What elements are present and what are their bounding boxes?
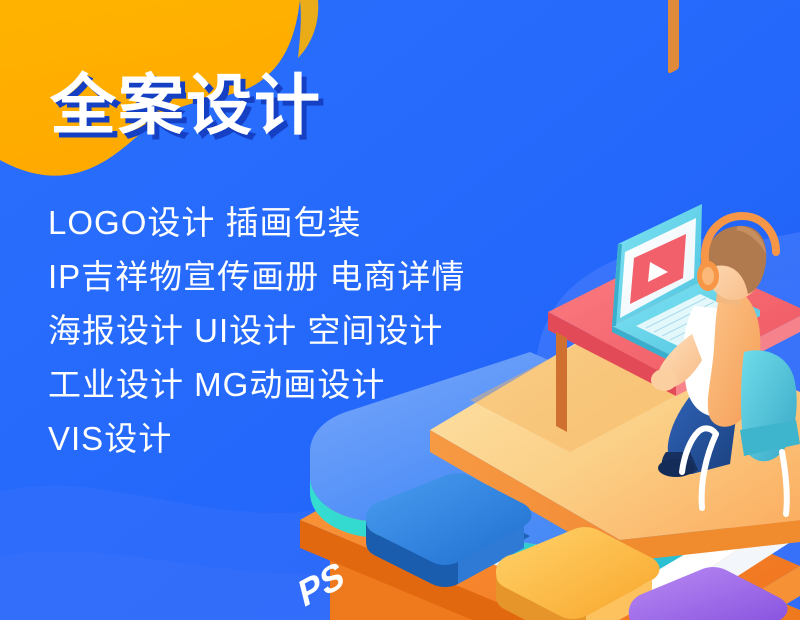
service-list: LOGO设计 插画包装 IP吉祥物宣传画册 电商详情 海报设计 UI设计 空间设… bbox=[48, 196, 465, 466]
service-line-2: IP吉祥物宣传画册 电商详情 bbox=[48, 250, 465, 304]
service-line-1: LOGO设计 插画包装 bbox=[48, 196, 465, 250]
poster-canvas: PS AI A 全案设计 LOGO设计 插画包装 IP吉祥物宣传画册 电商详情 … bbox=[0, 0, 800, 620]
service-line-5: VIS设计 bbox=[48, 412, 465, 466]
service-line-4: 工业设计 MG动画设计 bbox=[48, 358, 465, 412]
page-title: 全案设计 bbox=[50, 52, 322, 148]
service-line-3: 海报设计 UI设计 空间设计 bbox=[48, 304, 465, 358]
